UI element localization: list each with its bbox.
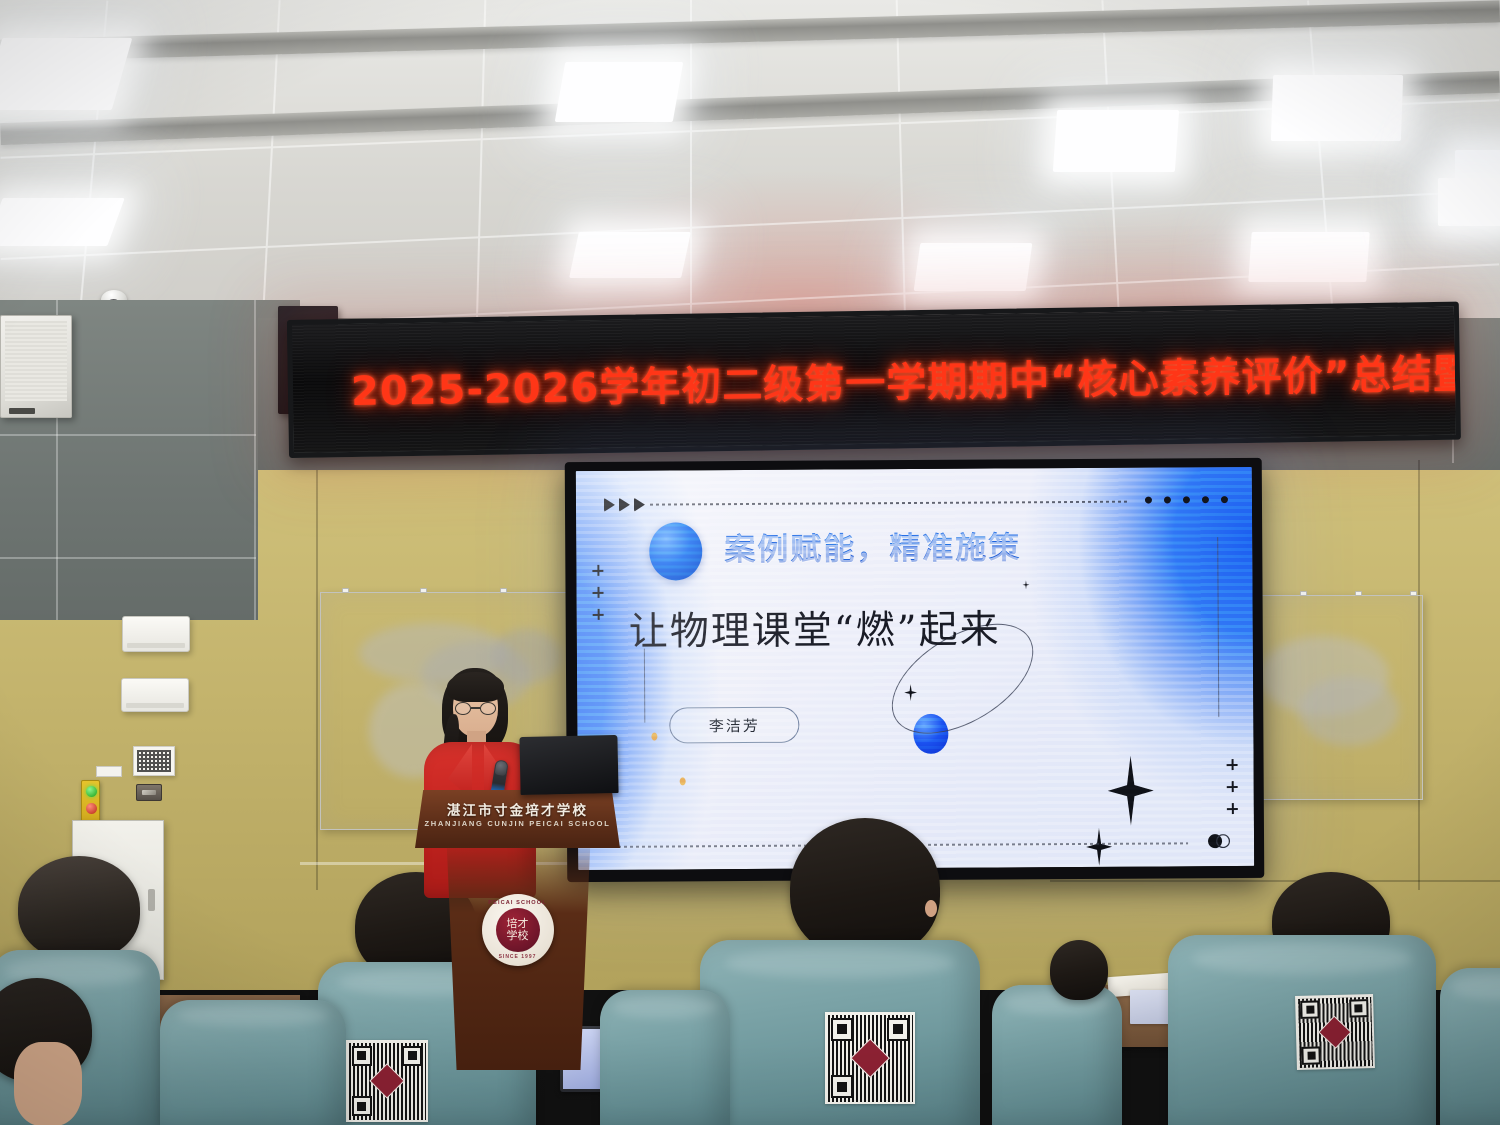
speaker-grille bbox=[5, 321, 67, 401]
led-banner-text: 2025-2026学年初二级第一学期期中“核心素养评价”总结暨教学研讨会 bbox=[351, 338, 1461, 417]
vertical-rule-left bbox=[644, 649, 646, 723]
ceiling-light bbox=[0, 38, 132, 110]
audience-chair[interactable] bbox=[1168, 935, 1436, 1125]
accent-dot bbox=[651, 733, 657, 741]
vertical-rule-right bbox=[1217, 537, 1219, 717]
whiteboard-clip bbox=[1410, 591, 1417, 596]
plus-decor-icon bbox=[592, 565, 603, 620]
podium-school-name-cn: 湛江市寸金培才学校 bbox=[415, 799, 620, 819]
fixture-label bbox=[96, 766, 122, 777]
audience-chair[interactable] bbox=[160, 1000, 346, 1125]
slide-title-sub: 让物理课堂“燃”起来 bbox=[629, 598, 1001, 656]
blue-sphere-large bbox=[649, 522, 702, 580]
attendee-head bbox=[1050, 940, 1108, 1000]
slide-presenter-chip: 李洁芳 bbox=[669, 707, 799, 744]
whiteboard-clip bbox=[1300, 591, 1307, 596]
accent-dot bbox=[680, 777, 686, 785]
status-lamp-icon bbox=[86, 786, 97, 797]
emergency-stop-icon[interactable] bbox=[86, 803, 97, 814]
lecture-hall-scene: 2025-2026学年初二级第一学期期中“核心素养评价”总结暨教学研讨会 bbox=[0, 0, 1500, 1125]
ceiling-light bbox=[1271, 75, 1403, 141]
ac-panel-upper bbox=[122, 616, 190, 652]
wall-seam bbox=[1050, 880, 1500, 882]
podium-laptop[interactable] bbox=[519, 735, 618, 795]
sparkle-icon bbox=[1022, 580, 1029, 589]
whiteboard-clip bbox=[500, 588, 507, 593]
attendee-face-front bbox=[14, 1042, 82, 1125]
whiteboard-clip bbox=[420, 588, 427, 593]
ac-panel-lower bbox=[121, 678, 189, 712]
dashed-rule-top bbox=[650, 501, 1130, 506]
crest-center: 培才学校 bbox=[496, 908, 540, 952]
projection-screen-frame: 案例赋能，精准施策 让物理课堂“燃”起来 李洁芳 bbox=[565, 458, 1265, 882]
attendee-head bbox=[790, 818, 940, 958]
ceiling-light bbox=[555, 62, 684, 122]
panel-seam bbox=[254, 300, 256, 620]
whiteboard-clip bbox=[1355, 591, 1362, 596]
podium-school-name-en: ZHANJIANG CUNJIN PEICAI SCHOOL bbox=[415, 819, 620, 828]
qr-code-icon bbox=[349, 1043, 426, 1120]
slide-title-main: 案例赋能，精准施策 bbox=[724, 522, 1021, 569]
qr-code-icon bbox=[828, 1015, 913, 1102]
qr-code-icon bbox=[1298, 997, 1373, 1068]
school-crest: PEICAI SCHOOL 培才学校 SINCE 1997 bbox=[482, 894, 554, 966]
audience-chair[interactable] bbox=[700, 940, 980, 1125]
ceiling-light bbox=[1248, 232, 1369, 282]
ceiling-light bbox=[569, 232, 691, 278]
ceiling-light bbox=[0, 198, 125, 246]
dashed-rule-bottom-right bbox=[928, 842, 1188, 846]
led-banner: 2025-2026学年初二级第一学期期中“核心素养评价”总结暨教学研讨会 bbox=[287, 302, 1461, 458]
projection-screen: 案例赋能，精准施策 让物理课堂“燃”起来 李洁芳 bbox=[576, 467, 1254, 870]
sparkle-icon-large bbox=[1108, 756, 1154, 826]
panel-seam bbox=[0, 434, 256, 436]
ceiling bbox=[0, 0, 1500, 330]
chair-qr-code[interactable] bbox=[825, 1012, 915, 1104]
ceiling-light bbox=[914, 243, 1033, 291]
chevron-decor-icon bbox=[604, 498, 645, 512]
circle-pair-decor bbox=[1208, 834, 1232, 850]
ceiling-light bbox=[1438, 178, 1500, 226]
attendee-ear bbox=[925, 900, 937, 917]
wall-seam bbox=[316, 470, 318, 890]
glasses-icon bbox=[455, 702, 496, 715]
dot-decor-icon bbox=[1145, 496, 1228, 504]
podium-top: 湛江市寸金培才学校 ZHANJIANG CUNJIN PEICAI SCHOOL bbox=[415, 790, 620, 848]
qr-code-icon bbox=[137, 750, 171, 772]
crest-top-text: PEICAI SCHOOL bbox=[482, 900, 554, 906]
presenter-hair-front bbox=[447, 672, 504, 702]
crest-bottom-text: SINCE 1997 bbox=[482, 954, 554, 960]
wall-speaker-left bbox=[0, 315, 72, 418]
ceiling-light bbox=[1053, 110, 1179, 172]
chair-qr-code[interactable] bbox=[1295, 994, 1375, 1070]
power-socket[interactable] bbox=[136, 784, 162, 801]
whiteboard-clip bbox=[342, 588, 349, 593]
audience-chair[interactable] bbox=[1440, 968, 1500, 1125]
audience-chair[interactable] bbox=[992, 985, 1122, 1125]
speaker-label bbox=[9, 408, 35, 414]
podium: 湛江市寸金培才学校 ZHANJIANG CUNJIN PEICAI SCHOOL… bbox=[415, 790, 620, 1070]
attendee-head bbox=[18, 856, 140, 960]
panel-seam bbox=[0, 557, 256, 559]
sparkle-icon-medium bbox=[1086, 828, 1112, 866]
wall-qr-poster[interactable] bbox=[133, 746, 175, 776]
plus-decor-icon bbox=[1227, 759, 1238, 814]
